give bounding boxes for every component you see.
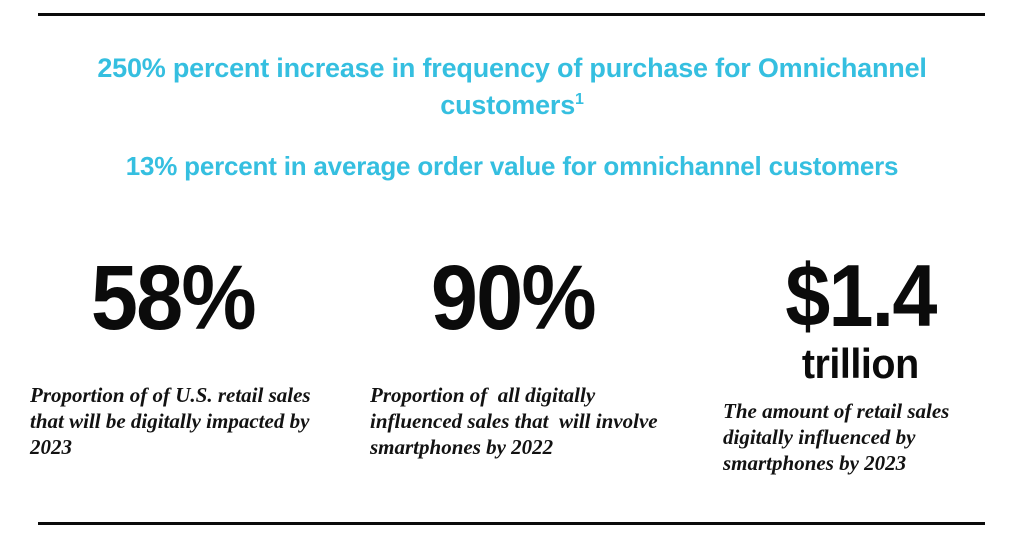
bottom-divider-rule bbox=[38, 522, 985, 525]
headline-average-order-value: 13% percent in average order value for o… bbox=[0, 149, 1024, 183]
slide-canvas: 250% percent increase in frequency of pu… bbox=[0, 0, 1024, 546]
stat-block-digitally-impacted-retail-sales: 58% Proportion of of U.S. retail sales t… bbox=[18, 250, 348, 460]
stat-unit-trillion: trillion bbox=[716, 342, 1015, 386]
headline-frequency-text: 250% percent increase in frequency of pu… bbox=[97, 53, 926, 120]
stat-caption-smartphone-influenced-sales: Proportion of all digitally influenced s… bbox=[370, 382, 660, 460]
stat-block-smartphone-influenced-amount: $1.4 trillion The amount of retail sales… bbox=[706, 250, 1024, 476]
headline-footnote-marker: 1 bbox=[575, 91, 584, 108]
stat-value-90-percent: 90% bbox=[371, 250, 675, 346]
headline-frequency-of-purchase: 250% percent increase in frequency of pu… bbox=[0, 50, 1024, 124]
stat-caption-smartphone-influenced-amount: The amount of retail sales digitally inf… bbox=[723, 398, 1023, 476]
stat-block-smartphone-influenced-sales: 90% Proportion of all digitally influenc… bbox=[358, 250, 688, 460]
stat-value-58-percent: 58% bbox=[31, 250, 335, 346]
headline-group: 250% percent increase in frequency of pu… bbox=[0, 50, 1024, 183]
top-divider-rule bbox=[38, 13, 985, 16]
statistics-row: 58% Proportion of of U.S. retail sales t… bbox=[0, 250, 1024, 500]
stat-caption-digitally-impacted-retail-sales: Proportion of of U.S. retail sales that … bbox=[30, 382, 330, 460]
stat-value-1-4-dollars: $1.4 bbox=[719, 250, 1012, 342]
